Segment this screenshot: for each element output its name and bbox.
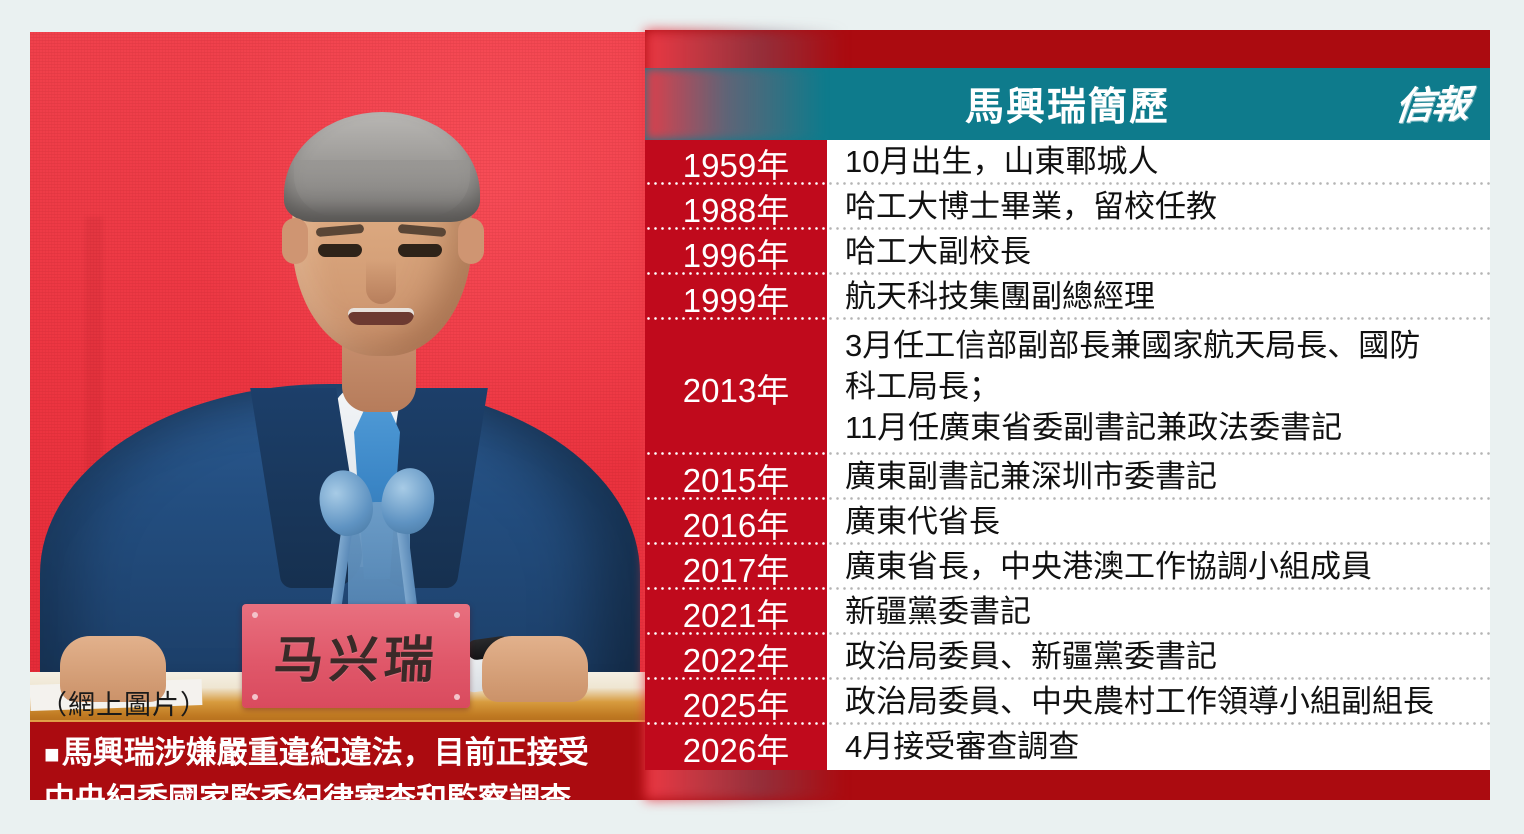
- bio-table-body: 1959年10月出生，山東鄆城人1988年哈工大博士畢業，留校任教1996年哈工…: [645, 140, 1490, 770]
- row-year-cell: 2026年: [645, 725, 827, 770]
- nameplate-screw-top-left: [252, 612, 258, 618]
- row-description-line: 廣東省長，中央港澳工作協調小組成員: [845, 547, 1480, 588]
- row-description-cell: 廣東副書記兼深圳市委書記: [827, 455, 1490, 500]
- table-row: 2021年新疆黨委書記: [645, 590, 1490, 635]
- row-description-line: 10月出生，山東鄆城人: [845, 142, 1480, 183]
- row-description-line: 廣東副書記兼深圳市委書記: [845, 457, 1480, 498]
- row-year-cell: 2016年: [645, 500, 827, 545]
- table-row: 2026年4月接受審查調查: [645, 725, 1490, 770]
- table-row: 1996年哈工大副校長: [645, 230, 1490, 275]
- row-description-cell: 航天科技集團副總經理: [827, 275, 1490, 320]
- row-description-cell: 政治局委員、新疆黨委書記: [827, 635, 1490, 680]
- row-description-cell: 政治局委員、中央農村工作領導小組副組長: [827, 680, 1490, 725]
- row-description-line: 科工局長；: [845, 367, 1480, 408]
- row-year-cell: 2015年: [645, 455, 827, 500]
- row-year-cell: 1999年: [645, 275, 827, 320]
- table-row: 1988年哈工大博士畢業，留校任教: [645, 185, 1490, 230]
- table-row: 1999年航天科技集團副總經理: [645, 275, 1490, 320]
- row-year-cell: 1988年: [645, 185, 827, 230]
- table-row: 2022年政治局委員、新疆黨委書記: [645, 635, 1490, 680]
- table-row: 2016年廣東代省長: [645, 500, 1490, 545]
- table-row: 2015年廣東副書記兼深圳市委書記: [645, 455, 1490, 500]
- row-year-cell: 2013年: [645, 320, 827, 455]
- eye-left: [318, 244, 362, 257]
- page-title: 馬興瑞簡歷: [645, 76, 1490, 132]
- row-description-cell: 新疆黨委書記: [827, 590, 1490, 635]
- row-description-line: 11月任廣東省委副書記兼政法委書記: [845, 408, 1480, 449]
- table-row: 2013年3月任工信部副部長兼國家航天局長、國防科工局長；11月任廣東省委副書記…: [645, 320, 1490, 455]
- nameplate-screw-top-right: [454, 612, 460, 618]
- row-description-line: 4月接受審查調查: [845, 727, 1480, 768]
- ear-left: [282, 218, 308, 264]
- nose: [366, 260, 396, 304]
- row-description-cell: 哈工大副校長: [827, 230, 1490, 275]
- row-year-cell: 2021年: [645, 590, 827, 635]
- table-row: 1959年10月出生，山東鄆城人: [645, 140, 1490, 185]
- caption-line-1: ■馬興瑞涉嫌嚴重違紀違法，目前正接受: [44, 730, 668, 777]
- hand-left: [60, 636, 166, 702]
- caption-band: ■馬興瑞涉嫌嚴重違紀違法，目前正接受 中央紀委國家監委紀律審查和監察調查。: [30, 722, 680, 800]
- row-year-cell: 1996年: [645, 230, 827, 275]
- hand-right: [482, 636, 588, 702]
- row-year-cell: 1959年: [645, 140, 827, 185]
- row-description-line: 航天科技集團副總經理: [845, 277, 1480, 318]
- ear-right: [458, 218, 484, 264]
- row-description-line: 廣東代省長: [845, 502, 1480, 543]
- nameplate-screw-bottom-left: [252, 694, 258, 700]
- row-description-line: 政治局委員、中央農村工作領導小組副組長: [845, 682, 1480, 723]
- row-description-cell: 3月任工信部副部長兼國家航天局長、國防科工局長；11月任廣東省委副書記兼政法委書…: [827, 320, 1490, 455]
- desk-nameplate: 马兴瑞: [242, 604, 470, 708]
- table-row: 2017年廣東省長，中央港澳工作協調小組成員: [645, 545, 1490, 590]
- row-description-cell: 廣東省長，中央港澳工作協調小組成員: [827, 545, 1490, 590]
- caption-bullet-icon: ■: [44, 739, 60, 769]
- photo-panel: 马兴瑞 （網上圖片） ■馬興瑞涉嫌嚴重違紀違法，目前正接受 中央紀委國家監委紀律…: [30, 32, 680, 800]
- row-description-cell: 4月接受審查調查: [827, 725, 1490, 770]
- caption-text-1: 馬興瑞涉嫌嚴重違紀違法，目前正接受: [62, 735, 589, 770]
- nameplate-screw-bottom-right: [454, 694, 460, 700]
- nameplate-name: 马兴瑞: [272, 620, 441, 692]
- hair: [284, 112, 480, 222]
- table-row: 2025年政治局委員、中央農村工作領導小組副組長: [645, 680, 1490, 725]
- caption-line-2: 中央紀委國家監委紀律審查和監察調查。: [44, 777, 668, 800]
- row-year-cell: 2017年: [645, 545, 827, 590]
- row-description-cell: 廣東代省長: [827, 500, 1490, 545]
- infographic-root: 马兴瑞 （網上圖片） ■馬興瑞涉嫌嚴重違紀違法，目前正接受 中央紀委國家監委紀律…: [0, 0, 1524, 834]
- table-header-band: 馬興瑞簡歷 信報: [645, 68, 1490, 140]
- row-description-line: 哈工大副校長: [845, 232, 1480, 273]
- row-description-cell: 哈工大博士畢業，留校任教: [827, 185, 1490, 230]
- row-description-cell: 10月出生，山東鄆城人: [827, 140, 1490, 185]
- row-description-line: 新疆黨委書記: [845, 592, 1480, 633]
- mouth: [348, 308, 414, 325]
- row-year-cell: 2022年: [645, 635, 827, 680]
- row-description-line: 哈工大博士畢業，留校任教: [845, 187, 1480, 228]
- brand-logo: 信報: [1393, 73, 1471, 130]
- eye-right: [398, 244, 442, 257]
- row-description-line: 3月任工信部副部長兼國家航天局長、國防: [845, 326, 1480, 367]
- bio-table-panel: 馬興瑞簡歷 信報 1959年10月出生，山東鄆城人1988年哈工大博士畢業，留校…: [645, 30, 1490, 800]
- row-description-line: 政治局委員、新疆黨委書記: [845, 637, 1480, 678]
- row-year-cell: 2025年: [645, 680, 827, 725]
